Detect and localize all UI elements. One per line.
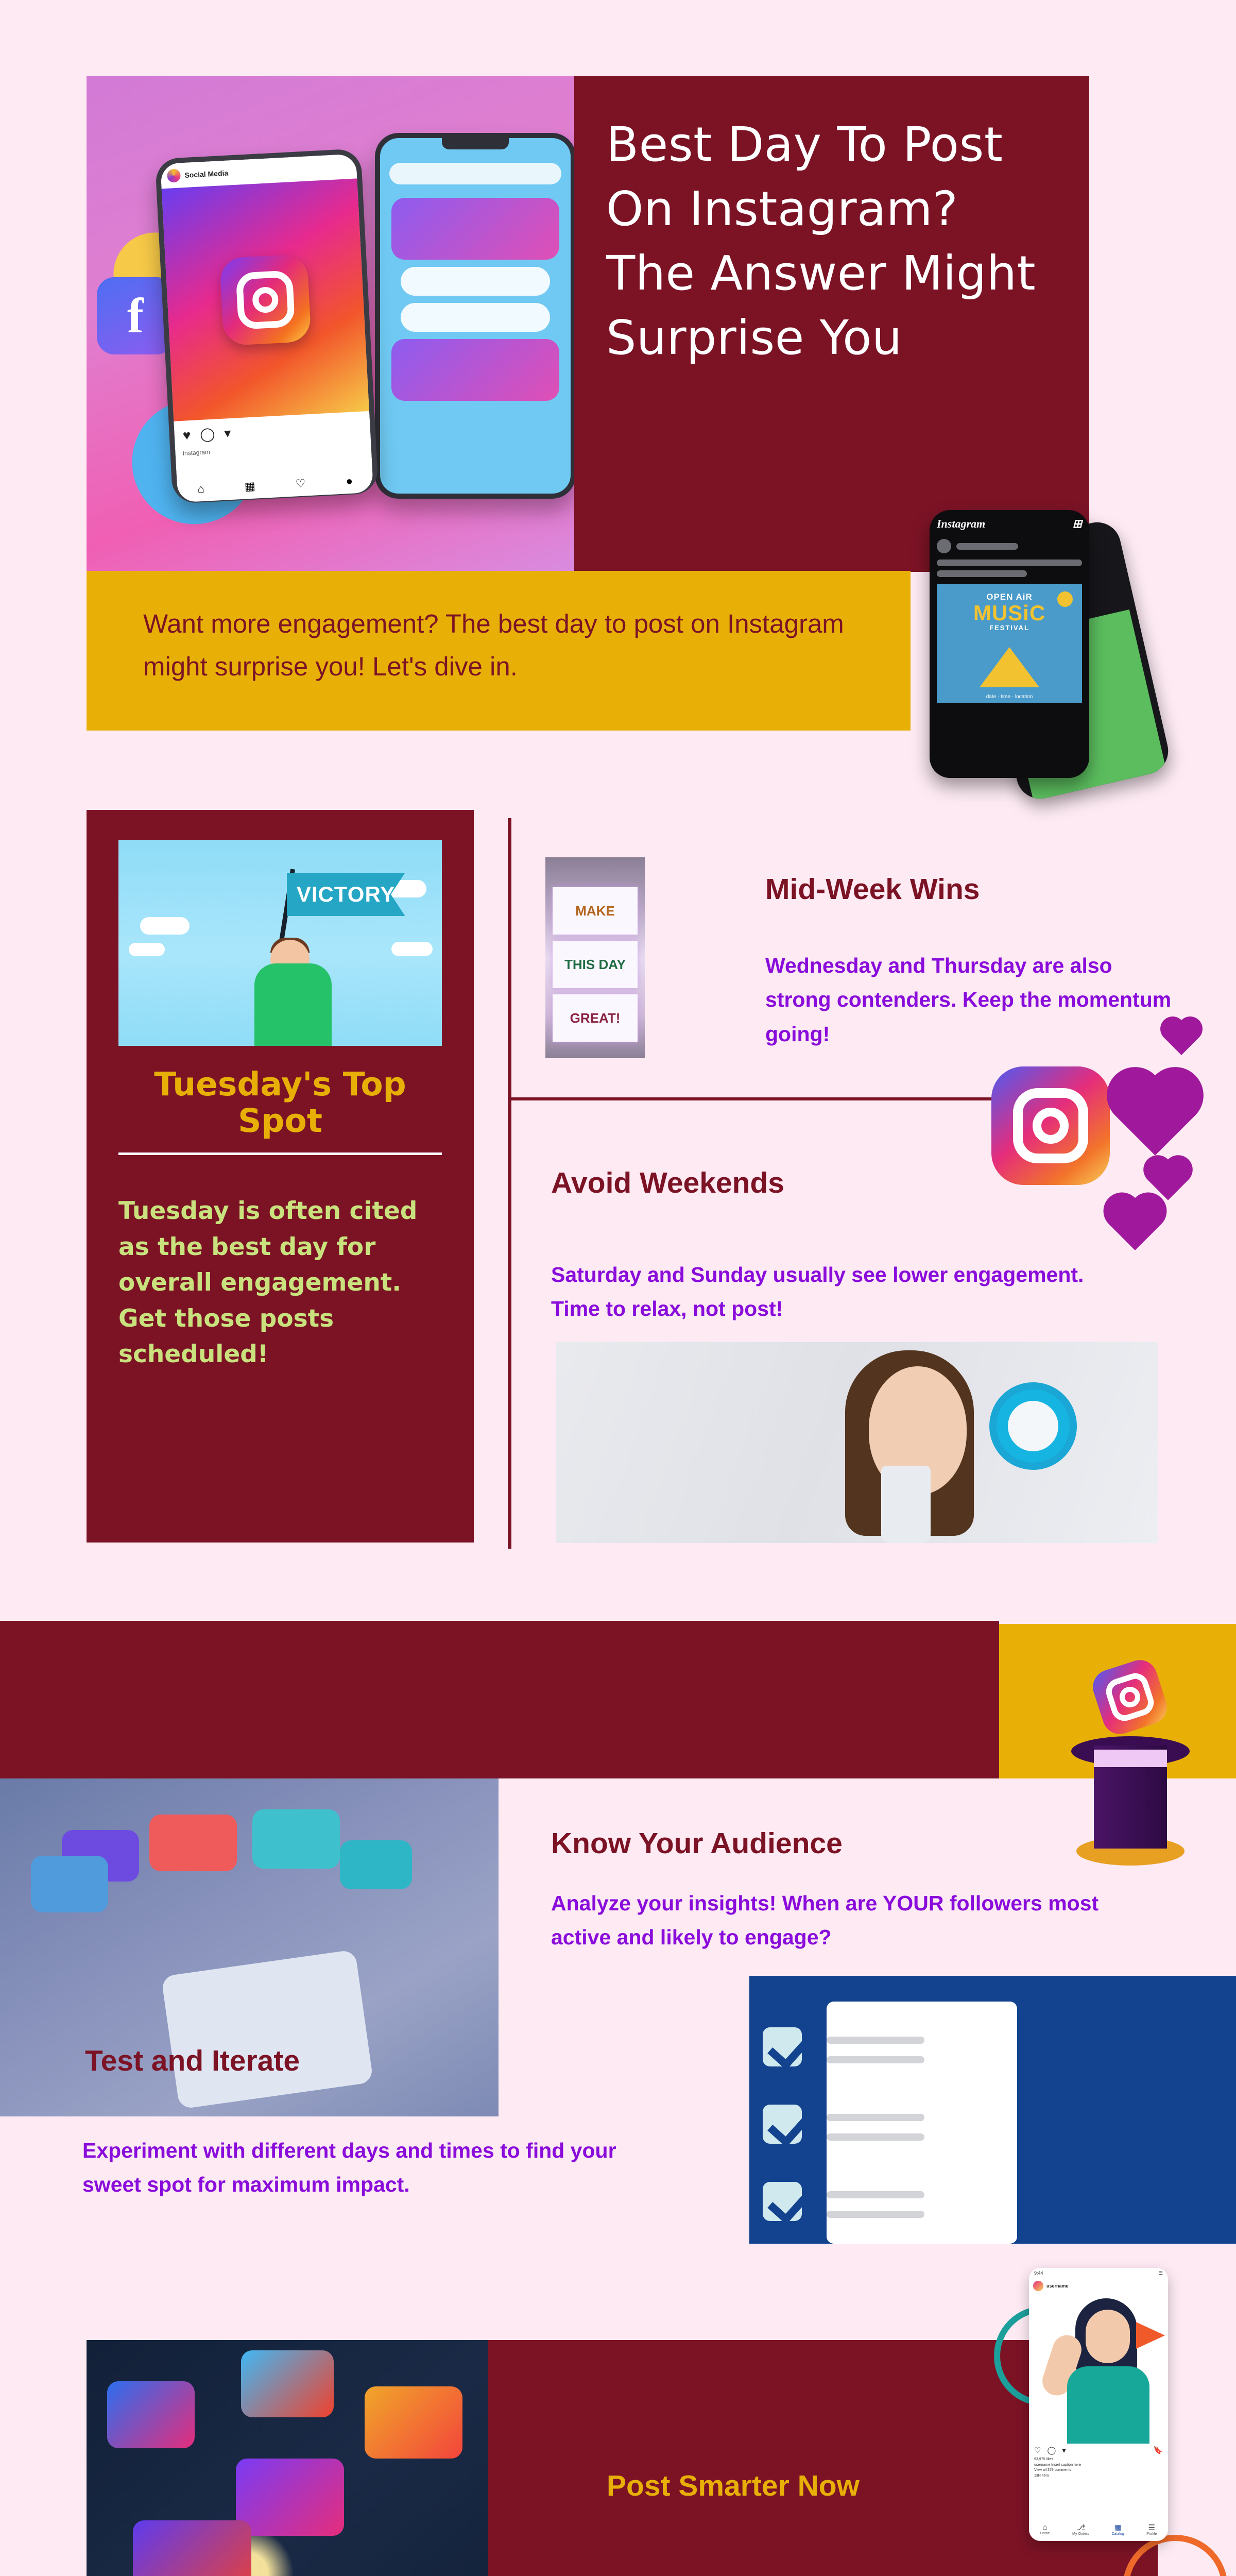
avatar [167, 168, 181, 182]
lightbox-line-3: GREAT! [553, 994, 638, 1042]
section-title-iterate: Test and Iterate [85, 2044, 300, 2078]
bookmark-icon[interactable]: 🔖 [1153, 2446, 1163, 2455]
lightbox-line-2: THIS DAY [553, 941, 638, 988]
menu-icon: ☰ [1146, 2523, 1157, 2532]
post-likes: 93,975 likes [1029, 2457, 1168, 2463]
mockup-app-header: Instagram ⊞ [937, 517, 1082, 531]
speech-bubble [149, 1815, 237, 1871]
placeholder-line [827, 2133, 924, 2141]
infographic-page: f Social Media ♥ ◯ ▾ Instagram [0, 0, 1236, 2576]
cloud-shape [129, 943, 165, 956]
instagram-wordmark: Instagram [937, 517, 985, 531]
tent-icon [980, 647, 1039, 687]
hero-phone-mockup-pair: Instagram ⊞ OPEN AiR MUSiC FESTIVAL date… [930, 510, 1151, 799]
section-title-tuesday: Tuesday's Top Spot [118, 1066, 442, 1139]
chart-card [31, 1856, 108, 1912]
cloud-shape [391, 942, 433, 956]
poster-footer: date · time · location [937, 694, 1082, 700]
section-body-midweek: Wednesday and Thursday are also strong c… [765, 948, 1172, 1051]
tab-home[interactable]: ⌂Home [1040, 2523, 1050, 2535]
phone-status-bar: 9:44 ☰ [1029, 2268, 1168, 2278]
sun-icon [1057, 591, 1073, 607]
post-illustration [1029, 2294, 1168, 2444]
section-body-tuesday: Tuesday is often cited as the best day f… [118, 1193, 442, 1372]
mockup-phone-front: Instagram ⊞ OPEN AiR MUSiC FESTIVAL date… [930, 510, 1089, 778]
section-tuesday-card: VICTORY Tuesday's Top Spot Tuesday is of… [87, 810, 474, 1543]
share-icon: ▾ [224, 425, 231, 441]
placeholder-bar [937, 560, 1082, 566]
phone-bubble [401, 267, 550, 296]
phone-card [391, 339, 559, 401]
heart-icon: ♥ [182, 427, 191, 444]
home-icon: ⌂ [1040, 2523, 1050, 2532]
app-name-label: Social Media [184, 169, 229, 179]
app-tile [107, 2381, 195, 2448]
hero-phone-secondary [375, 133, 576, 499]
placeholder-line [827, 2211, 924, 2218]
status-time: 9:44 [1034, 2270, 1043, 2276]
tab-my-orders[interactable]: ⎇My Orders [1072, 2523, 1089, 2536]
phone-bubble [401, 303, 550, 332]
section-title-weekends: Avoid Weekends [551, 1166, 784, 1200]
heart-icon[interactable]: ♡ [1034, 2446, 1041, 2455]
placeholder-line [827, 2191, 924, 2198]
instagram-icon [991, 1066, 1110, 1185]
face-shape [1086, 2310, 1130, 2363]
app-tile [236, 2459, 344, 2536]
hero-subtitle-block: Want more engagement? The best day to po… [87, 571, 911, 731]
phone-card [391, 198, 559, 260]
phone-feed [162, 178, 369, 421]
activity-icon: ⎇ [1072, 2523, 1089, 2532]
app-tile [365, 2386, 462, 2459]
placeholder-line [827, 2037, 924, 2044]
mockup-story-row [937, 539, 1082, 553]
heart-icon [1109, 1198, 1161, 1250]
phone-notch [442, 138, 509, 149]
signal-battery-icons: ☰ [1159, 2270, 1163, 2276]
section-title-audience: Know Your Audience [551, 1826, 843, 1860]
hero-title-block: Best Day To Post On Instagram? The Answe… [574, 76, 1089, 572]
app-tile [133, 2520, 251, 2576]
post-username: username [1046, 2283, 1069, 2289]
post-header: username [1029, 2278, 1168, 2294]
profile-icon: ● [346, 474, 353, 488]
placeholder-line [827, 2114, 924, 2121]
placeholder-bar [937, 570, 1027, 577]
section-body-audience: Analyze your insights! When are YOUR fol… [551, 1886, 1133, 1955]
tab-profile[interactable]: ☰Profile [1146, 2523, 1157, 2536]
music-festival-poster: OPEN AiR MUSiC FESTIVAL date · time · lo… [937, 584, 1082, 703]
torso-shape [1067, 2366, 1149, 2444]
post-caption: username Insert caption here [1029, 2463, 1168, 2468]
victory-flag-image: VICTORY [118, 840, 442, 1046]
megaphone-icon [1136, 2322, 1165, 2349]
phone-chip [389, 163, 561, 184]
coffee-cup-shape [881, 1466, 931, 1543]
body-shape [254, 963, 332, 1046]
heart-icon: ♡ [295, 477, 306, 490]
woman-with-alarm-clock-image [556, 1342, 1158, 1543]
victory-flag: VICTORY [287, 873, 405, 916]
post-comments-link[interactable]: View all 379 comments [1029, 2468, 1168, 2473]
instagram-icon [1088, 1655, 1171, 1738]
poster-line-3: FESTIVAL [937, 624, 1082, 633]
post-timestamp: 13H 46m [1029, 2473, 1168, 2479]
phone-tab-bar: ⌂Home ⎇My Orders ▦Catalog ☰Profile [1029, 2517, 1168, 2541]
hat-band [1094, 1750, 1167, 1767]
section-title-midweek: Mid-Week Wins [765, 872, 980, 906]
instagram-icons-grid-image [87, 2340, 488, 2576]
lightbox-line-1: MAKE [553, 887, 638, 935]
hero-social-media-photo: f Social Media ♥ ◯ ▾ Instagram [87, 76, 576, 571]
tab-catalog[interactable]: ▦Catalog [1112, 2523, 1124, 2536]
make-this-day-great-image: MAKE THIS DAY GREAT! [545, 857, 645, 1058]
placeholder-line [827, 2056, 924, 2063]
section-body-weekends: Saturday and Sunday usually see lower en… [551, 1258, 1123, 1326]
grid-icon: ▦ [244, 480, 255, 494]
page-title: Best Day To Post On Instagram? The Answe… [606, 112, 1058, 370]
avatar [1033, 2281, 1043, 2291]
vertical-divider [508, 818, 511, 1549]
grid-icon: ▦ [1112, 2523, 1124, 2532]
speech-bubble [252, 1809, 340, 1869]
checklist-illustration [749, 1976, 1236, 2244]
post-action-row: ♡ ◯ ▾ 🔖 [1029, 2444, 1168, 2457]
instagram-icon [219, 254, 312, 346]
plus-icon: ⊞ [1073, 517, 1082, 531]
cta-phone-mockup: 9:44 ☰ username ♡ ◯ ▾ 🔖 93,975 likes use… [1029, 2268, 1168, 2541]
magician-hat-illustration [1071, 1659, 1190, 1865]
heart-icon [1115, 1075, 1195, 1156]
comment-icon[interactable]: ◯ [1047, 2446, 1056, 2455]
phone-illustration [161, 1949, 373, 2109]
hero-phone-primary: Social Media ♥ ◯ ▾ Instagram ⌂ ▦ ♡ ● [155, 148, 379, 504]
hero-subtitle: Want more engagement? The best day to po… [143, 603, 859, 688]
share-icon[interactable]: ▾ [1062, 2446, 1066, 2455]
title-divider [118, 1153, 442, 1155]
cloud-shape [140, 917, 190, 935]
alarm-clock-icon [989, 1382, 1077, 1470]
section-body-iterate: Experiment with different days and times… [82, 2133, 664, 2202]
app-tile [241, 2350, 334, 2417]
home-icon: ⌂ [197, 482, 205, 496]
decorative-maroon-band [0, 1621, 999, 1778]
speech-bubble [340, 1840, 412, 1889]
placeholder-bar [956, 543, 1018, 550]
avatar [937, 539, 951, 553]
comment-icon: ◯ [199, 426, 215, 442]
